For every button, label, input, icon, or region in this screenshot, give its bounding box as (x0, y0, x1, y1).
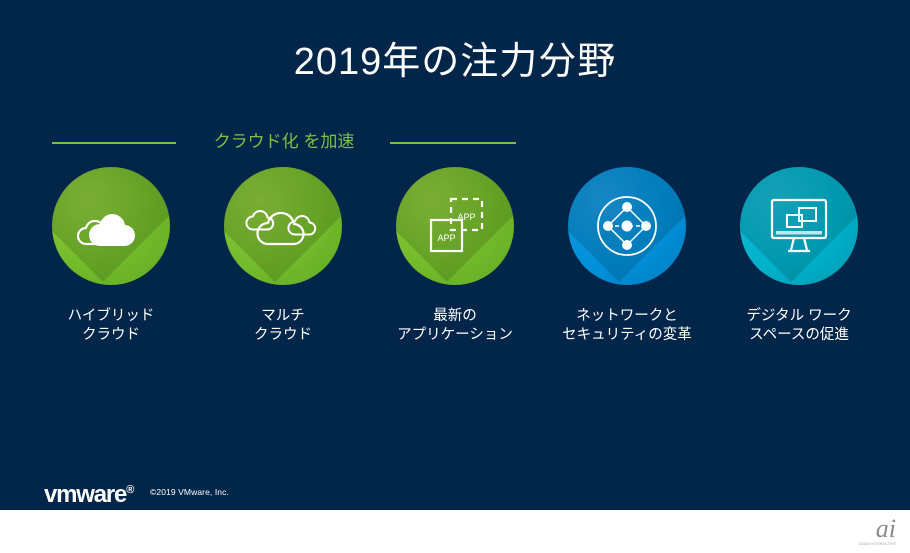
modern-applications-icon: APP APP (396, 167, 514, 285)
trademark-symbol: ® (126, 484, 134, 496)
subtitle-text: クラウド化 を加速 (196, 128, 372, 156)
pillar-network-security[interactable]: ネットワークと セキュリティの変革 (541, 167, 713, 345)
pillar-digital-workspace[interactable]: デジタル ワーク スペースの促進 (713, 167, 885, 345)
pillar-label: 最新の アプリケーション (369, 307, 541, 345)
pillar-label: ネットワークと セキュリティの変革 (541, 307, 713, 345)
pillar-disc (568, 167, 686, 285)
subtitle-band: クラウド化 を加速 (0, 128, 910, 156)
pillar-hybrid-cloud[interactable]: ハイブリッド クラウド (25, 167, 197, 345)
copyright-notice: ©2019 VMware, Inc. (150, 486, 229, 498)
pillar-disc (740, 167, 858, 285)
page-title: 2019年の注力分野 (0, 38, 910, 86)
ai-logo: ai (852, 516, 896, 542)
divider-line-left (52, 142, 176, 144)
multi-cloud-icon (224, 167, 342, 285)
hybrid-cloud-icon (52, 167, 170, 285)
pillar-modern-applications[interactable]: APP APP 最新の アプリケーション (369, 167, 541, 345)
slide-stage: 2019年の注力分野 クラウド化 を加速 (0, 0, 910, 553)
pillar-disc (52, 167, 170, 285)
asahi-interactive-watermark: ai ASAHI INTERACTIVE (852, 516, 896, 546)
pillar-disc: APP APP (396, 167, 514, 285)
network-nodes-icon (568, 167, 686, 285)
vmware-logo: vmware® (44, 478, 134, 507)
pillar-label: ハイブリッド クラウド (25, 307, 197, 345)
ai-logo-subtext: ASAHI INTERACTIVE (852, 542, 896, 547)
pillar-disc (224, 167, 342, 285)
presentation-slide: 2019年の注力分野 クラウド化 を加速 (0, 0, 910, 510)
divider-line-right (390, 142, 516, 144)
app-label-front: APP (437, 233, 455, 243)
pillar-label: デジタル ワーク スペースの促進 (713, 307, 885, 345)
vmware-wordmark: vmware (44, 481, 126, 508)
pillar-multi-cloud[interactable]: マルチ クラウド (197, 167, 369, 345)
pillar-label: マルチ クラウド (197, 307, 369, 345)
digital-workspace-monitor-icon (740, 167, 858, 285)
